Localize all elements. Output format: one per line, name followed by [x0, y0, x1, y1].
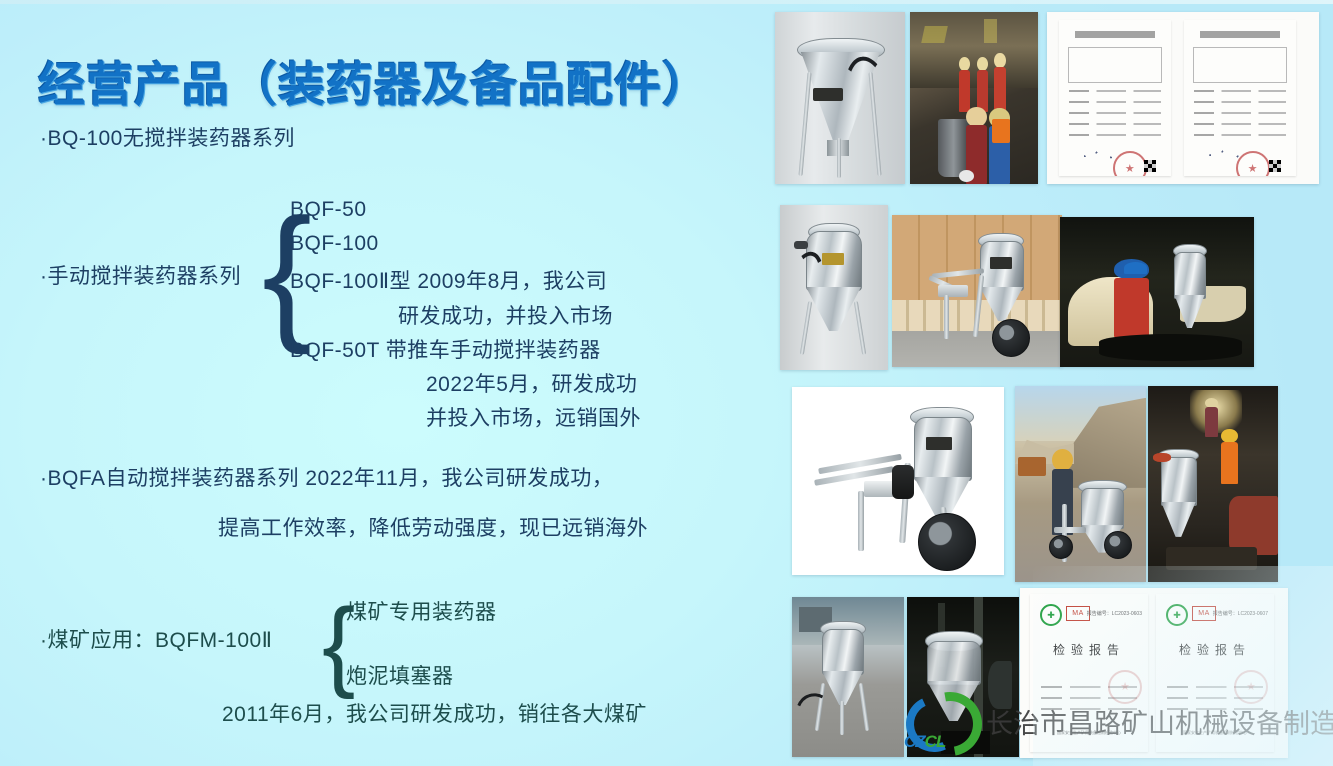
safety-logo-icon: ✚ — [1040, 604, 1062, 626]
photo-outdoor-mine-road[interactable] — [1015, 386, 1146, 582]
model-bqf-100ii-note: 研发成功，并投入市场 — [398, 300, 613, 330]
bullet-manual-series-label: ·手动搅拌装药器系列 — [40, 260, 241, 290]
photo-gallery: ✚ MA 报告编号：LC2023-0603 检验报告 国家安全生产矿用装备检测检… — [770, 0, 1333, 766]
text-column: 经营产品（装药器及备品配件） ·BQ-100无搅拌装药器系列 ·手动搅拌装药器系… — [0, 0, 770, 766]
document-inspection-report-1: ✚ MA 报告编号：LC2023-0603 检验报告 国家安全生产矿用装备检测检… — [1030, 594, 1148, 752]
photo-charger-white-room[interactable] — [775, 12, 905, 184]
report-code: 报告编号：LC2023-0607 — [1213, 610, 1268, 617]
safety-logo-icon: ✚ — [1166, 604, 1188, 626]
model-bqf-100ii: BQF-100Ⅱ型 2009年8月，我公司 — [290, 265, 607, 295]
photo-tunnel-charging[interactable] — [1148, 386, 1278, 582]
bullet-bq100-series: ·BQ-100无搅拌装药器系列 — [40, 122, 295, 152]
document-quality-sheet-2 — [1184, 20, 1296, 176]
model-bqf-50t-note2: 并投入市场，远销国外 — [426, 402, 641, 432]
report-footer: 国家安全生产矿用装备检测检验中心 — [1156, 730, 1274, 736]
model-bqf-50t-note1: 2022年5月，研发成功 — [426, 368, 637, 398]
report-code: 报告编号：LC2023-0603 — [1087, 610, 1142, 617]
photo-charger-yard[interactable] — [792, 597, 904, 757]
bullet-bqfa-line1: ·BQFA自动搅拌装药器系列 2022年11月，我公司研发成功， — [40, 462, 613, 492]
coalmine-note: 2011年6月，我公司研发成功，销往各大煤矿 — [222, 698, 647, 728]
page-title: 经营产品（装药器及备品配件） — [38, 46, 710, 115]
coalmine-item-stemmer: 炮泥填塞器 — [346, 660, 454, 690]
document-quality-sheet-1 — [1059, 20, 1171, 176]
report-footer: 国家安全生产矿用装备检测检验中心 — [1030, 730, 1148, 736]
bullet-bqfa-line2: 提高工作效率，降低劳动强度，现已远销海外 — [218, 512, 648, 542]
document-inspection-report-2: ✚ MA 报告编号：LC2023-0607 检验报告 国家安全生产矿用装备检测检… — [1156, 594, 1274, 752]
bullet-coalmine-label: ·煤矿应用：BQFM-100Ⅱ — [40, 624, 273, 654]
model-bqf-100: BQF-100 — [290, 232, 379, 256]
report-title: 检验报告 — [1156, 641, 1274, 658]
photo-certificates-pair[interactable] — [1047, 12, 1319, 184]
photo-inspection-reports-pair[interactable]: ✚ MA 报告编号：LC2023-0603 检验报告 国家安全生产矿用装备检测检… — [1020, 588, 1288, 758]
slide-canvas: 经营产品（装药器及备品配件） ·BQ-100无搅拌装药器系列 ·手动搅拌装药器系… — [0, 0, 1333, 766]
model-bqf-50t: BQF-50T 带推车手动搅拌装药器 — [290, 334, 601, 364]
photo-charger-with-cart[interactable] — [892, 215, 1062, 367]
model-bqf-50: BQF-50 — [290, 198, 367, 222]
coalmine-item-charger: 煤矿专用装药器 — [346, 596, 497, 626]
photo-charger-product-shot[interactable] — [792, 387, 1004, 575]
photo-charger-indoor[interactable] — [780, 205, 888, 370]
photo-charger-dark-site[interactable] — [907, 597, 1019, 757]
photo-mine-tunnel-workers[interactable] — [910, 12, 1038, 184]
report-title: 检验报告 — [1030, 641, 1148, 658]
photo-worker-underground[interactable] — [1060, 217, 1254, 367]
